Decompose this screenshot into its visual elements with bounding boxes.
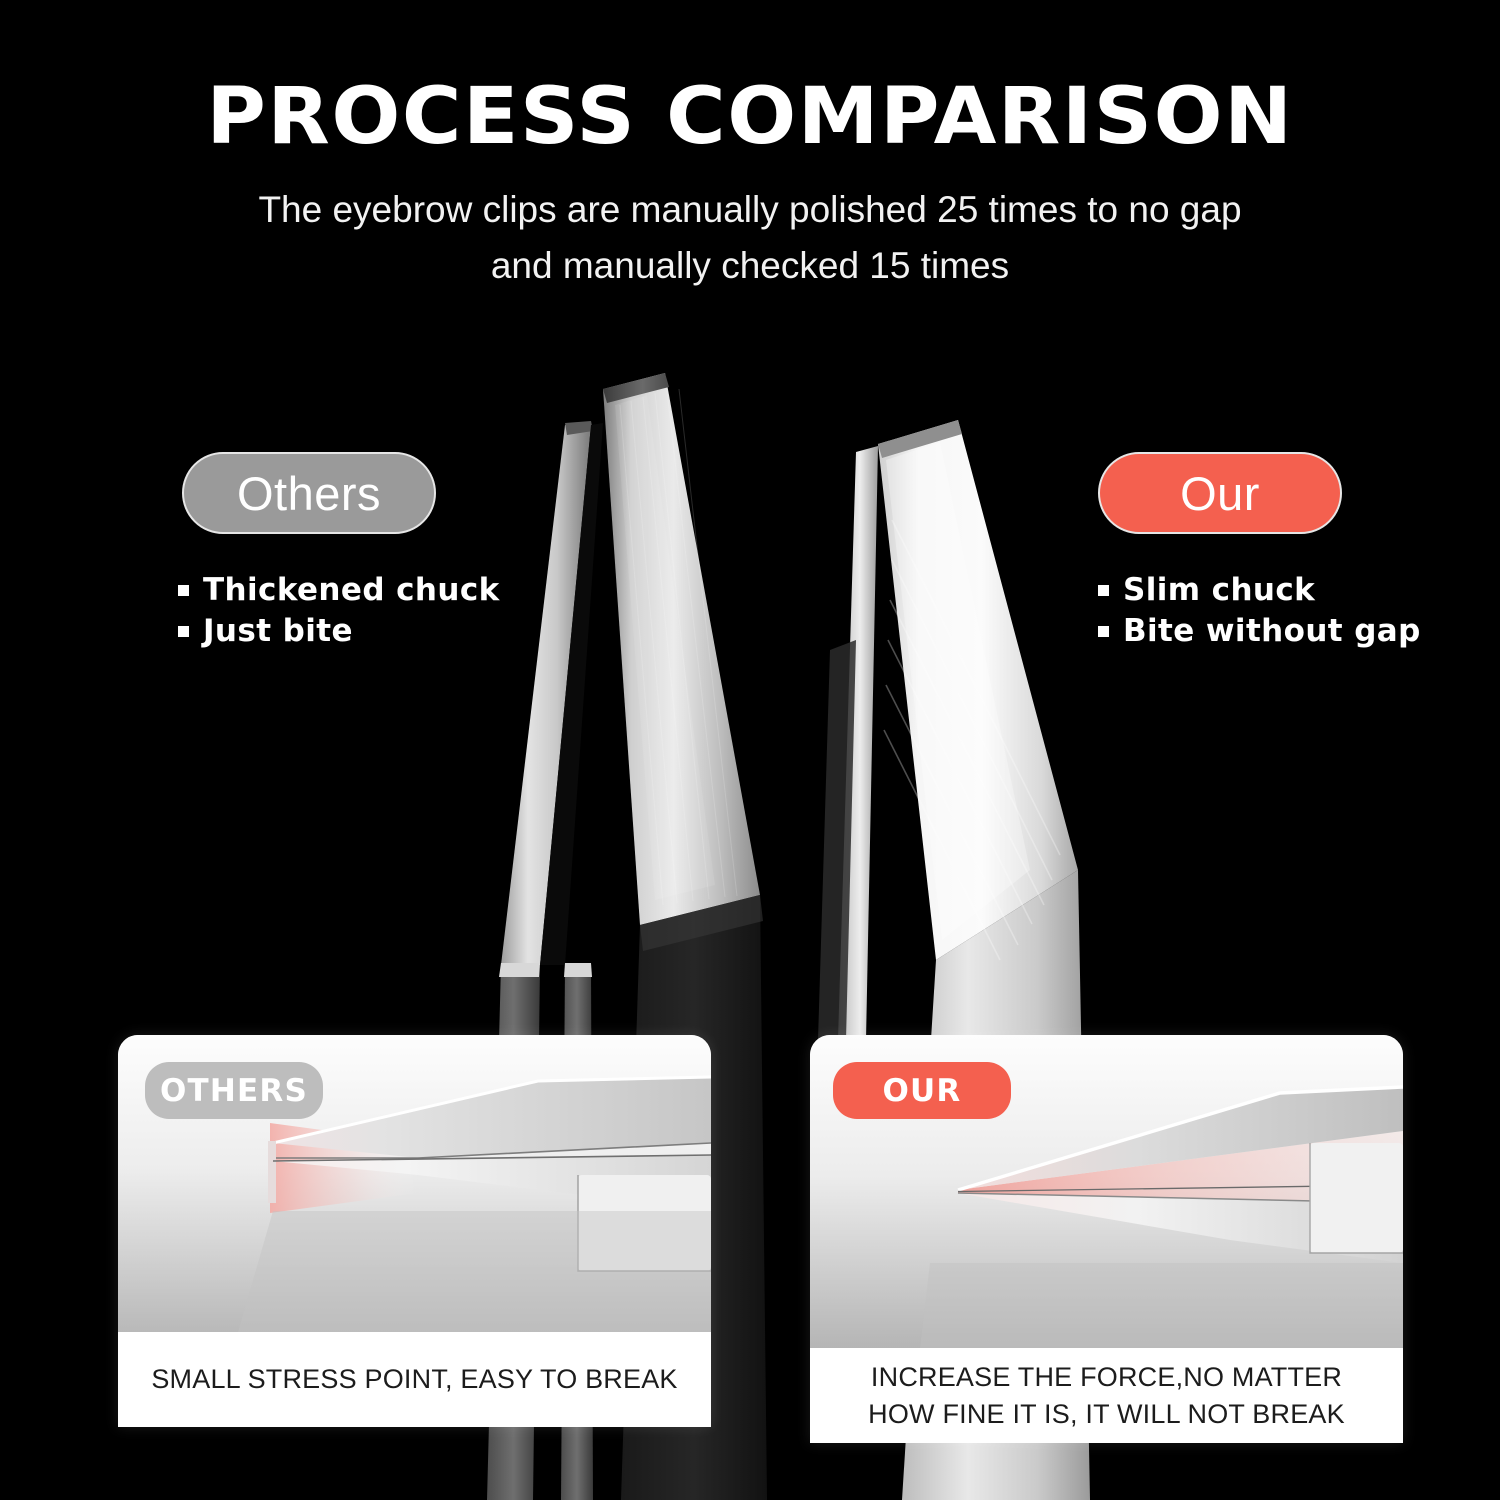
- our-feature-label: Slim chuck: [1123, 570, 1315, 611]
- our-card-badge: OUR: [833, 1062, 1011, 1119]
- others-feature-label: Just bite: [203, 611, 353, 652]
- others-caption-line-1: SMALL STRESS POINT, EASY TO BREAK: [151, 1361, 677, 1398]
- list-item: Bite without gap: [1098, 611, 1421, 652]
- our-caption-line-1: INCREASE THE FORCE,NO MATTER: [868, 1359, 1345, 1396]
- our-card-caption: INCREASE THE FORCE,NO MATTER HOW FINE IT…: [810, 1348, 1403, 1443]
- our-feature-label: Bite without gap: [1123, 611, 1421, 652]
- subtitle-line-2: and manually checked 15 times: [0, 238, 1500, 294]
- page-subtitle: The eyebrow clips are manually polished …: [0, 182, 1500, 294]
- bullet-square-icon: [178, 585, 189, 596]
- our-feature-list: Slim chuck Bite without gap: [1098, 570, 1421, 652]
- others-feature-list: Thickened chuck Just bite: [178, 570, 500, 652]
- bullet-square-icon: [1098, 626, 1109, 637]
- header: PROCESS COMPARISON The eyebrow clips are…: [0, 0, 1500, 294]
- others-card-caption: SMALL STRESS POINT, EASY TO BREAK: [118, 1332, 711, 1427]
- our-detail-card: OUR INCREASE THE FORCE,NO MATTER HOW FIN…: [810, 1035, 1403, 1443]
- our-badge: Our: [1098, 452, 1342, 534]
- bullet-square-icon: [178, 626, 189, 637]
- others-badge: Others: [182, 452, 436, 534]
- subtitle-line-1: The eyebrow clips are manually polished …: [0, 182, 1500, 238]
- list-item: Just bite: [178, 611, 500, 652]
- others-card-badge: OTHERS: [145, 1062, 323, 1119]
- others-feature-label: Thickened chuck: [203, 570, 500, 611]
- others-detail-card: OTHERS SMALL STRESS POINT, EASY TO BREAK: [118, 1035, 711, 1427]
- list-item: Slim chuck: [1098, 570, 1421, 611]
- our-caption-line-2: HOW FINE IT IS, IT WILL NOT BREAK: [868, 1396, 1345, 1433]
- page-title: PROCESS COMPARISON: [0, 78, 1500, 158]
- list-item: Thickened chuck: [178, 570, 500, 611]
- bullet-square-icon: [1098, 585, 1109, 596]
